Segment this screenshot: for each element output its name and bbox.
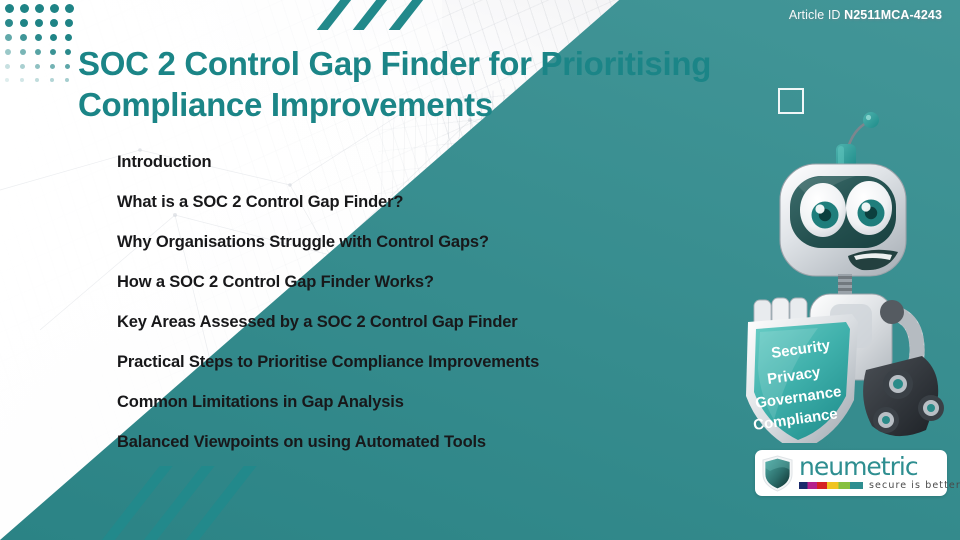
toc-item[interactable]: How a SOC 2 Control Gap Finder Works? bbox=[117, 262, 677, 302]
robot-mascot: Security Privacy Governance Compliance bbox=[726, 108, 960, 443]
article-id: Article ID N2511MCA-4243 bbox=[789, 8, 942, 22]
top-diagonal-stripes bbox=[330, 0, 450, 36]
slide-canvas: Article ID N2511MCA-4243 SOC 2 Control G… bbox=[0, 0, 960, 540]
toc-item[interactable]: Introduction bbox=[117, 142, 677, 182]
logo-subline: secure is better bbox=[799, 480, 960, 491]
neumetric-logo[interactable]: neumetric secure is better bbox=[755, 450, 947, 496]
bottom-diagonal-stripes bbox=[130, 466, 270, 540]
toc-item[interactable]: Common Limitations in Gap Analysis bbox=[117, 382, 677, 422]
toc-item[interactable]: What is a SOC 2 Control Gap Finder? bbox=[117, 182, 677, 222]
logo-wordmark: neumetric bbox=[799, 455, 960, 479]
shield-icon bbox=[761, 455, 794, 492]
toc-item[interactable]: Practical Steps to Prioritise Compliance… bbox=[117, 342, 677, 382]
logo-color-bar bbox=[799, 482, 863, 489]
logo-text-block: neumetric secure is better bbox=[799, 455, 960, 491]
table-of-contents: Introduction What is a SOC 2 Control Gap… bbox=[117, 142, 677, 462]
logo-tagline: secure is better bbox=[869, 480, 960, 491]
article-id-value: N2511MCA-4243 bbox=[844, 8, 942, 22]
toc-item[interactable]: Why Organisations Struggle with Control … bbox=[117, 222, 677, 262]
toc-item[interactable]: Balanced Viewpoints on using Automated T… bbox=[117, 422, 677, 462]
toc-item[interactable]: Key Areas Assessed by a SOC 2 Control Ga… bbox=[117, 302, 677, 342]
article-id-label: Article ID bbox=[789, 8, 841, 22]
page-title: SOC 2 Control Gap Finder for Prioritisin… bbox=[78, 44, 798, 126]
